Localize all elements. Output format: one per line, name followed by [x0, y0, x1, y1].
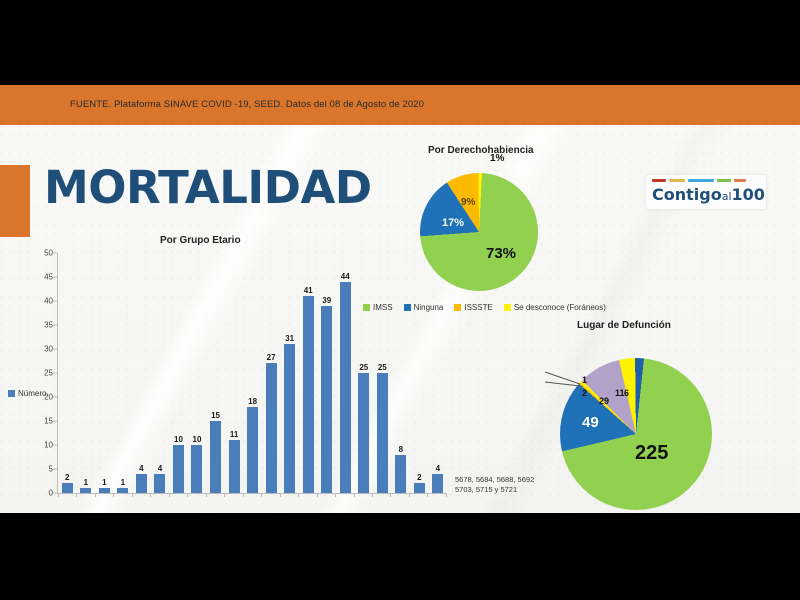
bar-value-label: 2	[65, 473, 69, 482]
pie1-slice-label: 73%	[486, 245, 516, 262]
bar-item: 10	[169, 253, 188, 493]
bar-rect	[154, 474, 165, 493]
legend-swatch-numero	[8, 390, 15, 397]
annotation-line: 5703, 5715 y 5721	[455, 485, 534, 495]
bar-rect	[247, 407, 258, 493]
bar-rect	[303, 296, 314, 493]
logo-dash-1	[669, 179, 685, 182]
bar-value-label: 31	[285, 334, 294, 343]
logo-dash-4	[734, 179, 746, 182]
x-tick	[58, 493, 76, 497]
bar-rect	[340, 282, 351, 493]
pie2-slice-label: 6	[624, 388, 629, 398]
pie2-slice-label: 1	[582, 375, 587, 385]
bar-value-label: 10	[193, 435, 202, 444]
bar-value-label: 1	[121, 478, 125, 487]
bar-value-label: 4	[158, 464, 162, 473]
pie2-slice-label: 2	[582, 388, 587, 398]
bar-item: 4	[151, 253, 170, 493]
slide-body: MORTALIDAD Contigoal100 Por Grupo Etario…	[0, 125, 800, 513]
bar-rect	[136, 474, 147, 493]
x-tick	[372, 493, 390, 497]
bar-rect	[266, 363, 277, 493]
pie1-legend-label: ISSSTE	[464, 303, 492, 312]
pie2-slice-label: 49	[582, 414, 599, 431]
y-tick-label: 10	[44, 441, 53, 450]
bar-value-label: 27	[267, 353, 276, 362]
annotation-line: 5678, 5684, 5688, 5692	[455, 475, 534, 485]
bar-value-label: 39	[322, 296, 331, 305]
bar-item: 15	[206, 253, 225, 493]
x-tick	[169, 493, 187, 497]
x-tick	[390, 493, 408, 497]
bar-value-label: 4	[139, 464, 143, 473]
bar-item: 1	[77, 253, 96, 493]
pie1-slice-label: 1%	[490, 153, 504, 164]
pie1-legend-item: ISSSTE	[454, 303, 492, 312]
bar-value-label: 1	[102, 478, 106, 487]
source-text: FUENTE. Plataforma SINAVE COVID -19, SEE…	[70, 99, 424, 110]
x-tick	[409, 493, 427, 497]
bar-rect	[62, 483, 73, 493]
logo-name: Contigo	[652, 185, 722, 204]
bar-value-label: 1	[84, 478, 88, 487]
logo-al: al	[722, 190, 732, 203]
derechohabiencia-chart: Por Derechohabiencia IMSSNingunaISSSTESe…	[398, 145, 613, 315]
logo-dash-2	[688, 179, 714, 182]
pie2-slice-label: 225	[635, 442, 668, 465]
bar-value-label: 44	[341, 272, 350, 281]
logo-number: 100	[732, 185, 765, 204]
bar-value-label: 4	[436, 464, 440, 473]
x-tick	[280, 493, 298, 497]
bar-chart-title: Por Grupo Etario	[160, 235, 241, 246]
x-tick	[354, 493, 372, 497]
bar-value-label: 8	[399, 445, 403, 454]
x-tick	[243, 493, 261, 497]
x-tick	[427, 493, 446, 497]
bar-item: 11	[225, 253, 244, 493]
pie2-slice-label: 29	[599, 396, 609, 406]
bar-value-label: 11	[230, 430, 238, 439]
x-tick	[224, 493, 242, 497]
bar-rect	[321, 306, 332, 493]
x-tick	[317, 493, 335, 497]
bar-item: 41	[299, 253, 318, 493]
y-tick-label: 40	[44, 297, 53, 306]
bar-series: 211144101015111827314139442525824	[58, 253, 447, 493]
pie1-title: Por Derechohabiencia	[428, 145, 534, 156]
pie1-legend-item: Se desconoce (Foráneos)	[504, 303, 606, 312]
x-tick	[261, 493, 279, 497]
x-tick	[113, 493, 131, 497]
x-tick	[95, 493, 113, 497]
bar-item: 25	[373, 253, 392, 493]
logo-dashes	[652, 179, 760, 183]
x-tick	[298, 493, 316, 497]
pie1-legend-swatch	[363, 304, 370, 311]
x-tick	[132, 493, 150, 497]
bar-item: 1	[95, 253, 114, 493]
lugar-defuncion-chart: Lugar de Defunción 225491229116	[525, 320, 775, 510]
bar-item: 2	[58, 253, 77, 493]
pie1-legend-swatch	[404, 304, 411, 311]
logo-dash-0	[652, 179, 666, 182]
pie1-slice-label: 17%	[442, 217, 464, 229]
letterbox-top	[0, 0, 800, 85]
logo-text: Contigoal100	[652, 185, 760, 207]
bar-chart-annotation: 5678, 5684, 5688, 56925703, 5715 y 5721	[455, 475, 534, 495]
y-tick-label: 15	[44, 417, 53, 426]
pie1-legend-swatch	[454, 304, 461, 311]
y-tick-label: 45	[44, 273, 53, 282]
bar-item: 10	[188, 253, 207, 493]
slide-screenshot: FUENTE. Plataforma SINAVE COVID -19, SEE…	[0, 0, 800, 600]
y-axis-labels: 05101520253035404550	[31, 253, 53, 493]
x-tick	[76, 493, 94, 497]
pie1-legend-label: Ninguna	[414, 303, 444, 312]
bar-item: 31	[280, 253, 299, 493]
pie1-legend-label: Se desconoce (Foráneos)	[514, 303, 606, 312]
bar-rect	[284, 344, 295, 493]
y-tick-label: 25	[44, 369, 53, 378]
logo-dash-3	[717, 179, 731, 182]
pie2-title: Lugar de Defunción	[577, 320, 671, 331]
pie1-legend-item: IMSS	[363, 303, 393, 312]
x-tick	[335, 493, 353, 497]
x-axis-ticks	[58, 493, 447, 497]
pie1-legend-label: IMSS	[373, 303, 393, 312]
bar-rect	[173, 445, 184, 493]
y-tick-label: 20	[44, 393, 53, 402]
letterbox-bottom	[0, 513, 800, 600]
bar-rect	[191, 445, 202, 493]
y-tick-label: 30	[44, 345, 53, 354]
bar-rect	[432, 474, 443, 493]
bar-rect	[395, 455, 406, 493]
bar-value-label: 18	[248, 397, 257, 406]
x-tick	[150, 493, 168, 497]
bar-rect	[229, 440, 240, 493]
bar-item: 18	[243, 253, 262, 493]
y-tick-label: 50	[44, 249, 53, 258]
bar-item: 1	[114, 253, 133, 493]
bar-rect	[358, 373, 369, 493]
pie1-slice-label: 9%	[461, 197, 475, 208]
pie1-legend-item: Ninguna	[404, 303, 444, 312]
bar-value-label: 10	[174, 435, 183, 444]
y-tick-label: 35	[44, 321, 53, 330]
bar-value-label: 15	[211, 411, 220, 420]
bar-value-label: 41	[304, 286, 313, 295]
bar-item: 39	[317, 253, 336, 493]
bar-rect	[210, 421, 221, 493]
bar-item: 44	[336, 253, 355, 493]
x-tick	[187, 493, 205, 497]
bar-item: 27	[262, 253, 281, 493]
contigo-al-100-logo: Contigoal100	[646, 175, 766, 209]
bar-value-label: 25	[378, 363, 387, 372]
bar-chart-plot: 05101520253035404550 2111441010151118273…	[57, 253, 447, 505]
page-title: MORTALIDAD	[44, 165, 372, 210]
bar-item: 4	[132, 253, 151, 493]
title-accent-bar	[0, 165, 30, 237]
bar-value-label: 2	[417, 473, 421, 482]
bar-rect	[414, 483, 425, 493]
bar-rect	[377, 373, 388, 493]
pie1-circle	[420, 173, 538, 291]
pie1-legend-swatch	[504, 304, 511, 311]
x-tick	[206, 493, 224, 497]
pie1-legend: IMSSNingunaISSSTESe desconoce (Foráneos)	[363, 303, 606, 312]
bar-value-label: 25	[359, 363, 368, 372]
bar-item: 25	[355, 253, 374, 493]
